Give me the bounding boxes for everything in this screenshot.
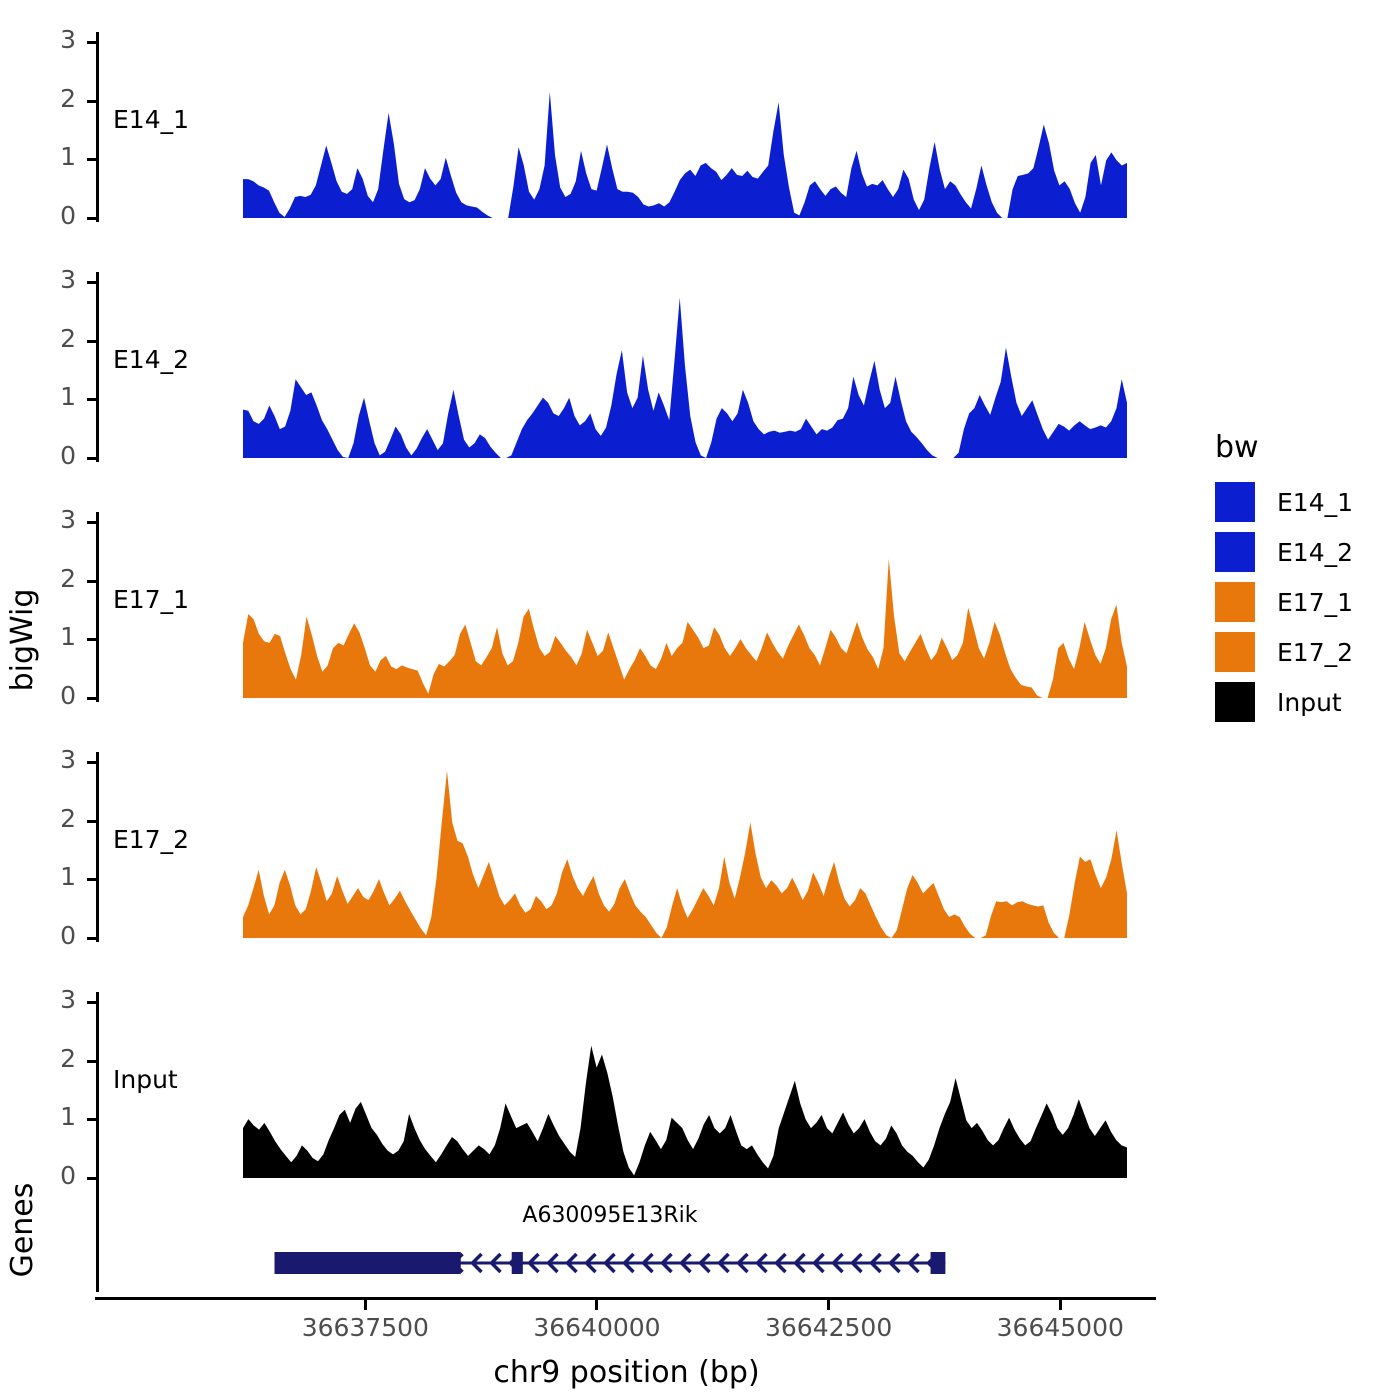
- coverage-area-E14_2: [243, 282, 1129, 470]
- y-tick-label: 3: [6, 265, 76, 294]
- y-tick-label: 0: [6, 681, 76, 710]
- y-tick-label: 3: [6, 505, 76, 534]
- genes-axis-title: Genes: [5, 1183, 40, 1278]
- y-tick-label: 1: [6, 382, 76, 411]
- y-axis-line-E17_2: [96, 752, 99, 942]
- y-tick-label: 3: [6, 25, 76, 54]
- y-tick-mark: [87, 398, 98, 401]
- track-label-Input: Input: [113, 1065, 178, 1094]
- x-tick-mark: [595, 1300, 598, 1310]
- y-tick-mark: [87, 1060, 98, 1063]
- y-axis-line-Input: [96, 992, 99, 1182]
- y-tick-mark: [87, 521, 98, 524]
- y-tick-label: 2: [6, 84, 76, 113]
- track-label-E17_1: E17_1: [113, 585, 189, 614]
- y-tick-label: 1: [6, 1102, 76, 1131]
- y-tick-mark: [87, 878, 98, 881]
- y-tick-mark: [87, 340, 98, 343]
- gene-name-label: A630095E13Rik: [410, 1203, 810, 1228]
- y-tick-mark: [87, 820, 98, 823]
- gene-model[interactable]: [223, 1243, 1147, 1283]
- legend-item-E14_2: E14_2: [1215, 532, 1353, 572]
- y-axis-line-E17_1: [96, 512, 99, 702]
- y-tick-mark: [87, 697, 98, 700]
- y-tick-mark: [87, 41, 98, 44]
- legend-label-E14_1: E14_1: [1277, 488, 1353, 517]
- x-tick-mark: [827, 1300, 830, 1310]
- x-tick-mark: [364, 1300, 367, 1310]
- y-tick-label: 2: [6, 564, 76, 593]
- y-tick-mark: [87, 100, 98, 103]
- legend-swatch-Input: [1215, 682, 1255, 722]
- y-tick-mark: [87, 580, 98, 583]
- legend-swatch-E14_2: [1215, 532, 1255, 572]
- y-tick-label: 3: [6, 745, 76, 774]
- x-axis-title: chr9 position (bp): [96, 1355, 1157, 1390]
- legend-swatch-E17_1: [1215, 582, 1255, 622]
- legend-title: bw: [1215, 430, 1259, 465]
- track-label-E14_2: E14_2: [113, 345, 189, 374]
- coverage-area-E14_1: [243, 42, 1129, 230]
- legend-label-E17_2: E17_2: [1277, 638, 1353, 667]
- y-tick-label: 0: [6, 921, 76, 950]
- coverage-area-Input: [243, 1002, 1129, 1190]
- y-tick-label: 2: [6, 1044, 76, 1073]
- coverage-area-E17_2: [243, 762, 1129, 950]
- y-tick-label: 1: [6, 622, 76, 651]
- genes-axis-line: [96, 1162, 99, 1292]
- legend-label-Input: Input: [1277, 688, 1342, 717]
- legend-label-E17_1: E17_1: [1277, 588, 1353, 617]
- y-tick-mark: [87, 217, 98, 220]
- y-axis-line-E14_1: [96, 32, 99, 222]
- y-tick-mark: [87, 937, 98, 940]
- legend-swatch-E14_1: [1215, 482, 1255, 522]
- legend-item-E17_1: E17_1: [1215, 582, 1353, 622]
- x-axis-line: [95, 1297, 1156, 1300]
- x-tick-label: 36645000: [910, 1313, 1210, 1342]
- y-axis-line-E14_2: [96, 272, 99, 462]
- y-tick-label: 2: [6, 804, 76, 833]
- legend-item-E14_1: E14_1: [1215, 482, 1353, 522]
- track-label-E14_1: E14_1: [113, 105, 189, 134]
- y-tick-label: 0: [6, 201, 76, 230]
- y-tick-label: 0: [6, 441, 76, 470]
- legend-swatch-E17_2: [1215, 632, 1255, 672]
- y-tick-mark: [87, 1001, 98, 1004]
- y-tick-mark: [87, 1118, 98, 1121]
- legend-item-Input: Input: [1215, 682, 1342, 722]
- y-tick-mark: [87, 158, 98, 161]
- y-tick-label: 1: [6, 142, 76, 171]
- legend-item-E17_2: E17_2: [1215, 632, 1353, 672]
- coverage-area-E17_1: [243, 522, 1129, 710]
- track-label-E17_2: E17_2: [113, 825, 189, 854]
- y-tick-label: 0: [6, 1161, 76, 1190]
- y-tick-mark: [87, 457, 98, 460]
- y-tick-label: 3: [6, 985, 76, 1014]
- y-tick-label: 1: [6, 862, 76, 891]
- x-tick-mark: [1059, 1300, 1062, 1310]
- plot-canvas: bigWig Genes 0123E14_10123E14_20123E17_1…: [0, 0, 1400, 1400]
- y-tick-mark: [87, 761, 98, 764]
- y-tick-mark: [87, 281, 98, 284]
- y-tick-label: 2: [6, 324, 76, 353]
- legend-label-E14_2: E14_2: [1277, 538, 1353, 567]
- y-tick-mark: [87, 638, 98, 641]
